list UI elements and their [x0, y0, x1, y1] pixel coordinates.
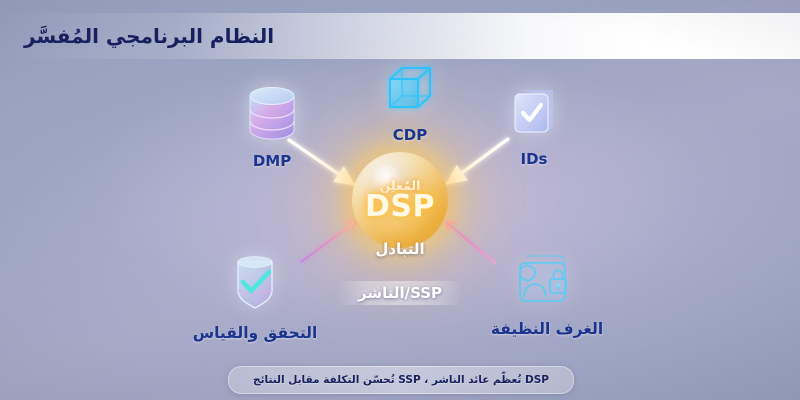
node-cleanrooms[interactable]: الغرف النظيفة [462, 252, 632, 338]
shield-check-icon [224, 252, 286, 318]
center-main-label: DSP [365, 192, 435, 222]
caption-bar: DSP تُعظّم عائد الناشر ، SSP تُحسّن التك… [228, 366, 574, 394]
cube-icon [382, 62, 438, 120]
check-card-icon [507, 84, 561, 144]
database-icon [244, 84, 300, 146]
infographic-canvas: النظام البرنامجي المُفسَّر المُعلِن DSP [0, 0, 800, 400]
node-label-dmp: DMP [253, 152, 291, 170]
node-label-cleanrooms: الغرف النظيفة [491, 320, 603, 338]
node-cdp[interactable]: CDP [352, 62, 468, 144]
node-label-cdp: CDP [393, 126, 427, 144]
exchange-label: التبادل [0, 240, 800, 258]
header-band: النظام البرنامجي المُفسَّر [0, 13, 800, 59]
node-verification[interactable]: التحقق والقياس [170, 252, 340, 342]
ssp-publisher-label: SSP/الناشر [338, 281, 462, 305]
node-ids[interactable]: IDs [476, 84, 592, 168]
person-lock-icon [514, 252, 580, 314]
caption-text: DSP تُعظّم عائد الناشر ، SSP تُحسّن التك… [253, 374, 549, 386]
center-node-dsp[interactable]: المُعلِن DSP [352, 152, 448, 248]
node-label-verification: التحقق والقياس [193, 324, 318, 342]
node-dmp[interactable]: DMP [214, 84, 330, 170]
node-label-ids: IDs [521, 150, 548, 168]
page-title: النظام البرنامجي المُفسَّر [0, 24, 274, 48]
